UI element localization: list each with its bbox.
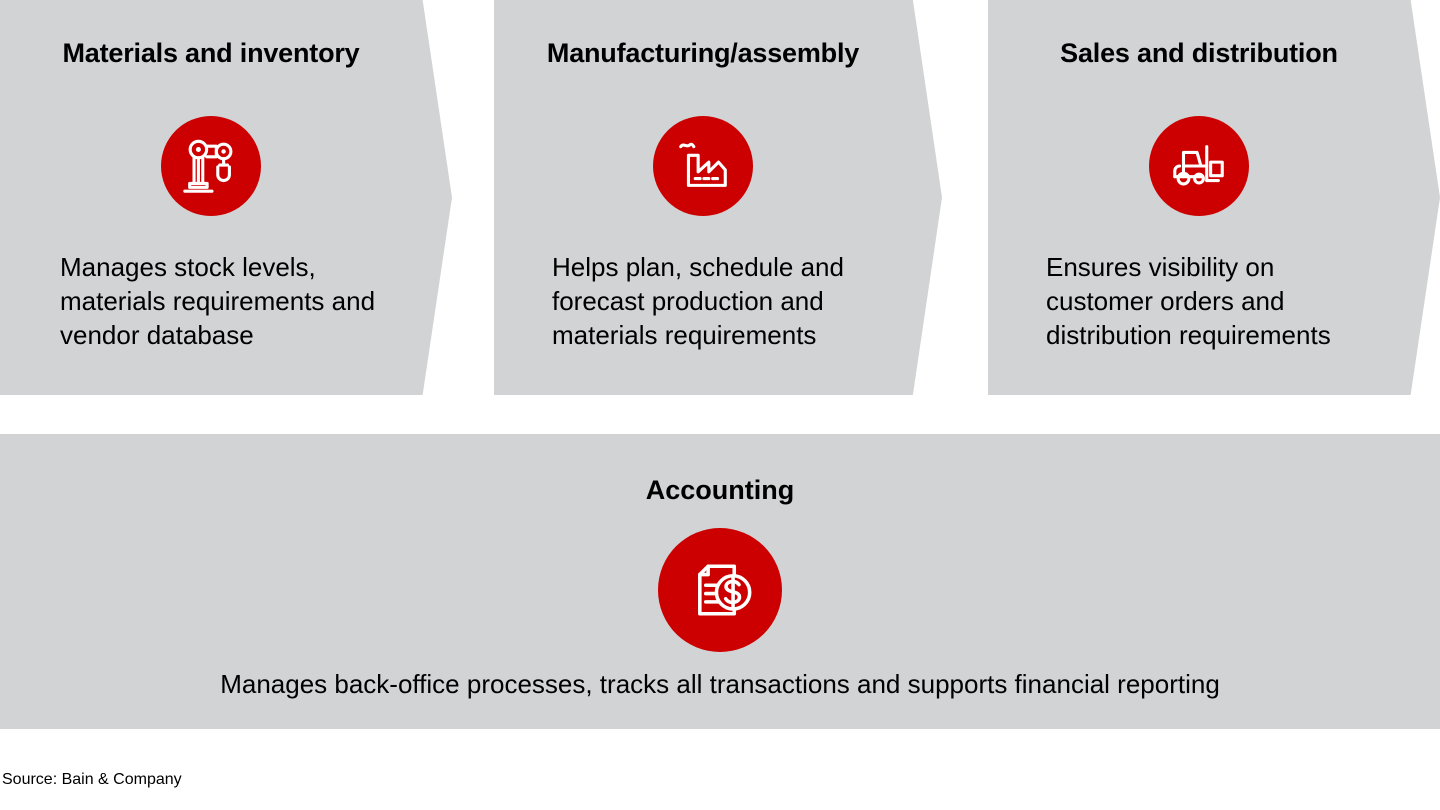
- panel-title: Materials and inventory: [0, 38, 422, 69]
- factory-icon: [653, 116, 753, 216]
- panel-title: Sales and distribution: [988, 38, 1410, 69]
- panel-description: Helps plan, schedule and forecast produc…: [552, 250, 890, 352]
- panel-description: Ensures visibility on customer orders an…: [1046, 250, 1388, 352]
- panel-description: Manages stock levels, materials requirem…: [60, 250, 400, 352]
- forklift-icon: [1149, 116, 1249, 216]
- process-step-sales-and-distribution[interactable]: Sales and distribution Ensures visibilit…: [988, 0, 1440, 395]
- process-step-materials-and-inventory[interactable]: Materials and inventory: [0, 0, 452, 395]
- panel-content: Materials and inventory: [0, 0, 422, 395]
- support-band-accounting[interactable]: Accounting Manages back-office processes…: [0, 434, 1440, 729]
- process-steps-row: Materials and inventory: [0, 0, 1440, 395]
- process-step-manufacturing-assembly[interactable]: Manufacturing/assembly Helps plan, sched…: [494, 0, 942, 395]
- panel-content: Manufacturing/assembly Helps plan, sched…: [494, 0, 912, 395]
- panel-content: Sales and distribution Ensures visibilit…: [988, 0, 1410, 395]
- accounting-description: Manages back-office processes, tracks al…: [0, 668, 1440, 700]
- panel-title: Manufacturing/assembly: [494, 38, 912, 69]
- accounting-title: Accounting: [0, 475, 1440, 506]
- invoice-dollar-icon: [658, 528, 782, 652]
- robotic-arm-icon: [161, 116, 261, 216]
- source-note: Source: Bain & Company: [2, 771, 182, 789]
